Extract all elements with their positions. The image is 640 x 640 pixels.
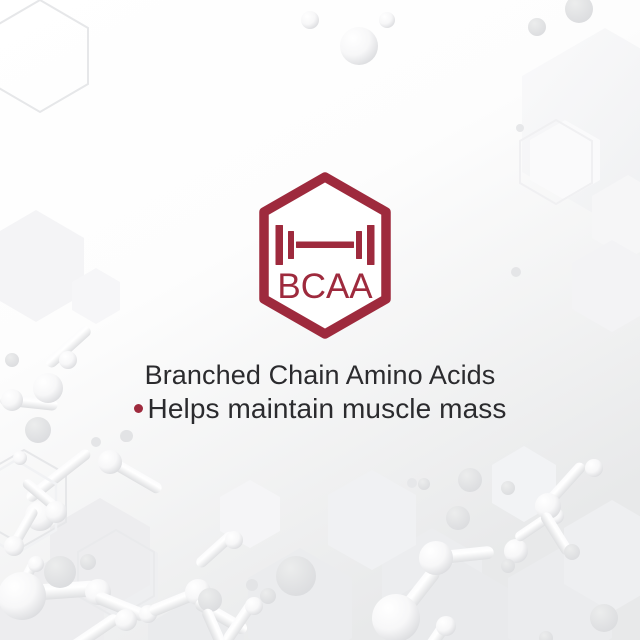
bcaa-wordmark: BCAA [277,267,373,306]
bcaa-badge: BCAA [245,168,405,343]
bcaa-badge-svg: BCAA [245,168,405,343]
caption-benefit-text: Helps maintain muscle mass [148,393,507,424]
caption-benefit-line: Helps maintain muscle mass [0,395,640,423]
caption-title: Branched Chain Amino Acids [0,362,640,389]
caption-block: Branched Chain Amino Acids Helps maintai… [0,362,640,423]
bullet-dot-icon [134,404,143,413]
product-graphic-canvas: BCAA Branched Chain Amino Acids Helps ma… [0,0,640,640]
